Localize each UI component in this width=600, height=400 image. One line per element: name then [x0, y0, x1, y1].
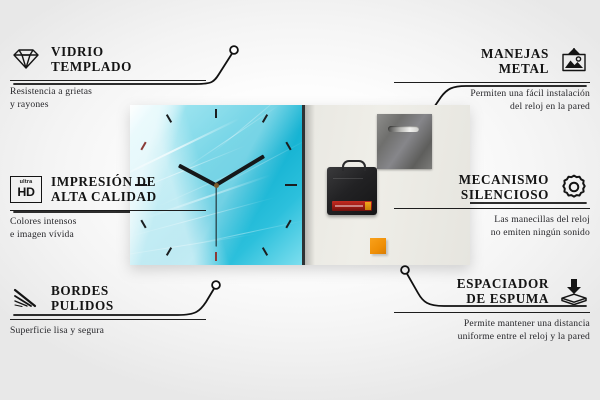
feature-vidrio-templado: VIDRIO TEMPLADO Resistencia a grietas y …: [10, 42, 206, 111]
feature-divider: [10, 80, 206, 81]
feature-title: ESPACIADOR DE ESPUMA: [394, 276, 549, 307]
feature-description: Resistencia a grietas y rayones: [10, 86, 206, 111]
foam-spacer-icon: [558, 275, 590, 307]
feature-title: IMPRESIÓN DE ALTA CALIDAD: [51, 174, 206, 205]
ultra-hd-icon: ultra HD: [10, 173, 42, 205]
hanging-frame-icon: [558, 45, 590, 77]
leader-dot-espaciador: [401, 266, 409, 274]
feature-espaciador-espuma: ESPACIADOR DE ESPUMA Permite mantener un…: [394, 274, 590, 343]
feature-divider: [10, 210, 206, 211]
clock-mechanism: [327, 167, 377, 215]
leader-dot-vidrio-templado: [230, 46, 238, 54]
feature-title: BORDES PULIDOS: [51, 283, 206, 314]
feature-title: MECANISMO SILENCIOSO: [394, 172, 549, 203]
feature-mecanismo-silencioso: MECANISMO SILENCIOSO Las manecillas del …: [394, 170, 590, 239]
feature-description: Permite mantener una distancia uniforme …: [394, 318, 590, 343]
feature-description: Las manecillas del reloj no emiten ningú…: [394, 214, 590, 239]
hanger-keyhole-slot: [388, 126, 419, 132]
feature-divider: [394, 82, 590, 83]
ultra-hd-main-label: HD: [17, 186, 34, 198]
feature-title: VIDRIO TEMPLADO: [51, 44, 206, 75]
leader-dot-bordes: [212, 281, 220, 289]
clock-minute-hand: [215, 154, 265, 186]
clock-second-hand: [215, 185, 216, 247]
feature-description: Permiten una fácil instalación del reloj…: [394, 88, 590, 113]
feature-divider: [394, 208, 590, 209]
product-infographic: VIDRIO TEMPLADO Resistencia a grietas y …: [0, 0, 600, 400]
clock-hand-pin: [214, 183, 219, 188]
feature-description: Colores intensos e imagen vívida: [10, 216, 206, 241]
feature-impresion-alta-calidad: ultra HD IMPRESIÓN DE ALTA CALIDAD Color…: [10, 172, 206, 241]
diamond-icon: [10, 43, 42, 75]
feature-title: MANEJAS METAL: [394, 46, 549, 77]
feature-divider: [10, 319, 206, 320]
foam-spacer: [370, 238, 386, 254]
battery: [332, 201, 372, 211]
metal-hanger-plate: [377, 114, 432, 169]
feature-divider: [394, 312, 590, 313]
feature-bordes-pulidos: BORDES PULIDOS Superficie lisa y segura: [10, 281, 206, 338]
feature-manejas-metal: MANEJAS METAL Permiten una fácil instala…: [394, 44, 590, 113]
gear-icon: [558, 171, 590, 203]
polished-edges-icon: [10, 282, 42, 314]
feature-description: Superficie lisa y segura: [10, 325, 206, 338]
